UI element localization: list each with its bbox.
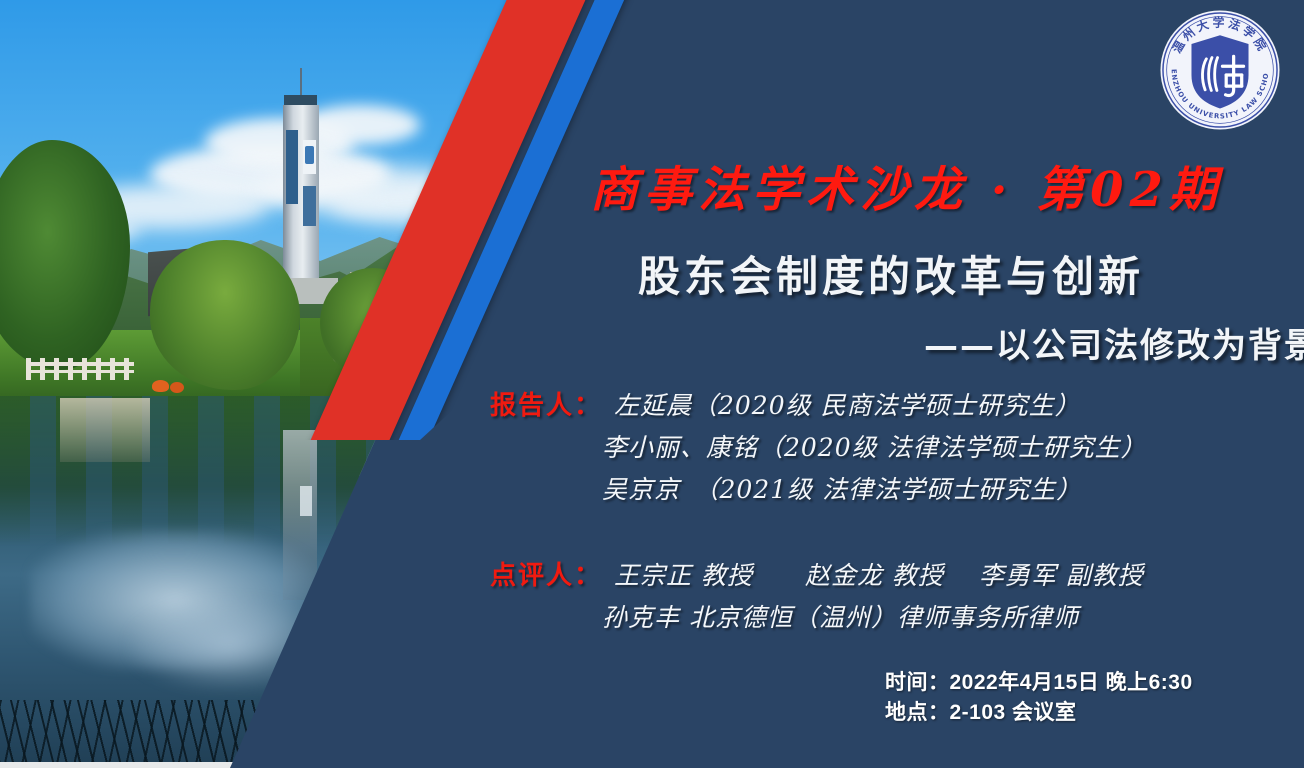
- speaker-row: 报告人： 左延晨（2020级 民商法学硕士研究生）: [470, 385, 1304, 422]
- commentators-label: 点评人：: [470, 555, 614, 592]
- reeds: [0, 700, 340, 768]
- speaker-line: 李小丽、康铭（2020级 法律法学硕士研究生）: [602, 428, 1147, 464]
- event-time: 时间：2022年4月15日 晚上6:30: [885, 668, 1193, 698]
- commentator-row: 点评人： 王宗正 教授 赵金龙 教授 李勇军 副教授: [470, 555, 1304, 592]
- poster-subtitle-secondary: ——以公司法修改为背景: [780, 318, 1304, 367]
- event-meta: 时间：2022年4月15日 晚上6:30 地点：2-103 会议室: [885, 668, 1193, 729]
- speaker-row: 吴京京 （2021级 法律法学硕士研究生）: [470, 470, 1304, 506]
- cloud-reflection: [130, 600, 330, 690]
- white-fence: [26, 358, 134, 380]
- tree: [320, 268, 425, 378]
- poster-title: 商事法学术沙龙 · 第02期: [590, 150, 1290, 220]
- orange-object: [170, 382, 184, 393]
- speakers-block: 报告人： 左延晨（2020级 民商法学硕士研究生） 李小丽、康铭（2020级 法…: [470, 385, 1304, 512]
- speaker-row: 李小丽、康铭（2020级 法律法学硕士研究生）: [470, 428, 1304, 464]
- building-reflection: [60, 398, 150, 462]
- tower-window-strip: [286, 130, 298, 204]
- commentator-line: 王宗正 教授 赵金龙 教授 李勇军 副教授: [614, 556, 1144, 592]
- tower-window-lower: [303, 186, 316, 226]
- speakers-label: 报告人：: [470, 385, 614, 422]
- commentator-line: 孙克丰 北京德恒（温州）律师事务所律师: [602, 598, 1079, 634]
- poster-subtitle: 股东会制度的改革与创新: [638, 243, 1304, 304]
- event-poster: 温州大学法学院 WENZHOU UNIVERSITY LAW SCHOOL 商事…: [0, 0, 1304, 768]
- commentator-row: 孙克丰 北京德恒（温州）律师事务所律师: [470, 598, 1304, 634]
- tower-mast: [300, 68, 302, 98]
- willow-tree: [150, 240, 300, 390]
- poster-content: 商事法学术沙龙 · 第02期 股东会制度的改革与创新 ——以公司法修改为背景 报…: [470, 0, 1304, 768]
- event-location: 地点：2-103 会议室: [885, 698, 1193, 728]
- commentators-block: 点评人： 王宗正 教授 赵金龙 教授 李勇军 副教授 孙克丰 北京德恒（温州）律…: [470, 555, 1304, 640]
- tower-window-reflection: [300, 486, 312, 516]
- tower-window-panel: [303, 140, 316, 174]
- speaker-line: 左延晨（2020级 民商法学硕士研究生）: [614, 386, 1081, 422]
- speaker-line: 吴京京 （2021级 法律法学硕士研究生）: [602, 470, 1082, 506]
- orange-object: [152, 380, 169, 392]
